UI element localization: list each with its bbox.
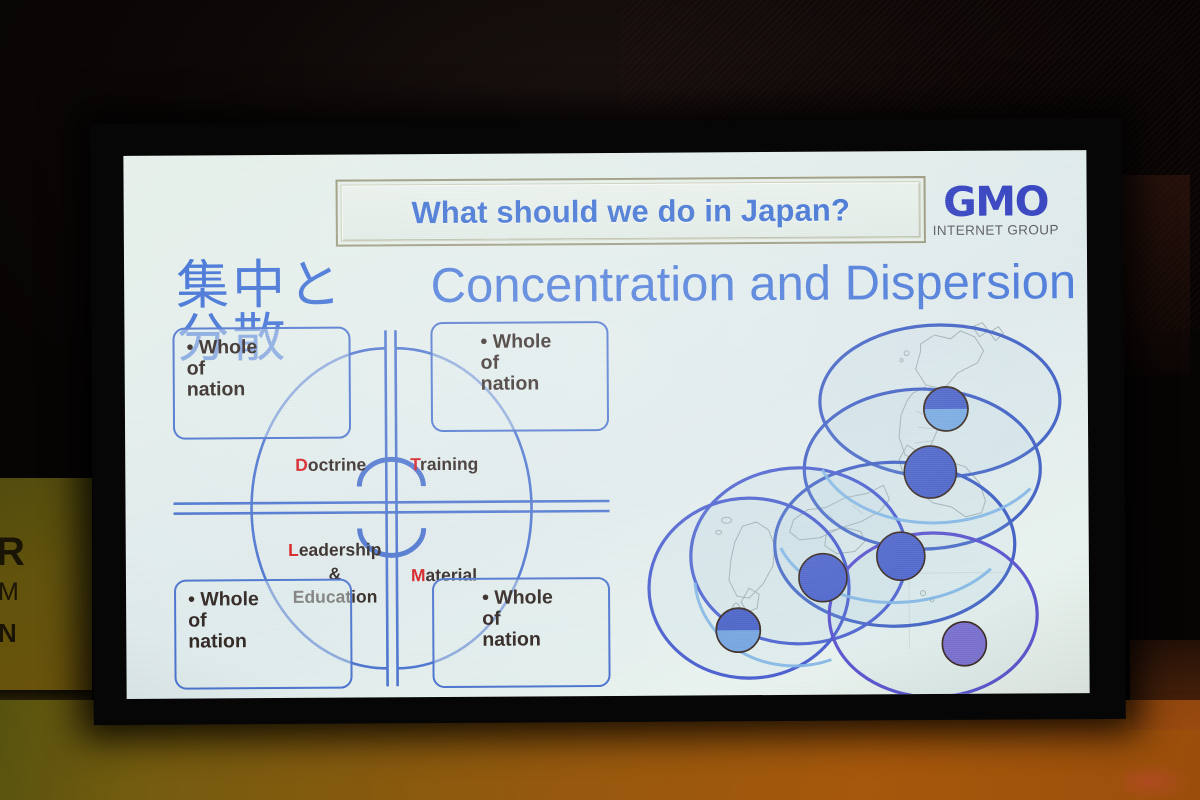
- map-graphics: [629, 318, 1089, 699]
- callout-br-line1: Whole: [482, 587, 596, 609]
- callout-tr-line2: of: [481, 352, 595, 374]
- callout-tl-line2: of: [187, 358, 337, 380]
- quadrant-label-doctrine: Doctrine: [295, 453, 366, 477]
- divider-vertical-left: [386, 348, 388, 668]
- concentration-diagram: Doctrine Training Leadership & Education…: [142, 325, 654, 693]
- callout-tl-line3: nation: [187, 379, 337, 401]
- quadrant-initial-material: M: [411, 565, 426, 585]
- wall-right: [1130, 640, 1200, 730]
- slide-title-inner-frame: What should we do in Japan?: [341, 181, 921, 242]
- banner-letter-2: M: [0, 578, 20, 607]
- quadrant-initial-doctrine: D: [295, 455, 308, 475]
- divider-vertical-right: [396, 348, 398, 668]
- quadrant-rest-training: raining: [420, 454, 478, 474]
- callout-bottom-right: Whole of nation: [432, 577, 611, 688]
- datacenter-dot-3: [877, 532, 925, 580]
- quadrant-label-training: Training: [410, 453, 478, 477]
- callout-top-right: Whole of nation: [430, 321, 609, 432]
- quadrant-rest-doctrine: octrine: [308, 454, 366, 474]
- page-title: What should we do in Japan?: [411, 192, 850, 231]
- quadrant-initial-leadership: L: [288, 540, 299, 560]
- gmo-logo-subtitle: INTERNET GROUP: [933, 222, 1059, 238]
- projector-screen-bezel: What should we do in Japan? GMO INTERNET…: [90, 118, 1126, 725]
- datacenter-dot-2: [904, 446, 956, 498]
- callout-br-line2: of: [482, 608, 596, 630]
- heading-english: Concentration and Dispersion: [430, 258, 1076, 311]
- gmo-wordmark: GMO: [932, 182, 1058, 222]
- venue-banner: R M N: [0, 478, 92, 710]
- gmo-logo: GMO INTERNET GROUP: [932, 182, 1058, 238]
- divider-horizontal-bottom: [174, 511, 610, 514]
- banner-letter-3: N: [0, 618, 18, 649]
- quadrant-line-leadership: Leadership: [276, 538, 394, 562]
- slide-title-box: What should we do in Japan?: [336, 176, 926, 247]
- datacenter-dot-4: [799, 554, 847, 602]
- quadrant-rest-leadership: eadership: [299, 539, 382, 560]
- dispersion-map: [629, 318, 1089, 699]
- banner-letter-1: R: [0, 530, 26, 575]
- callout-tr-line3: nation: [481, 373, 595, 395]
- callout-bl-line2: of: [188, 610, 338, 632]
- floor-logo-glow: [1122, 762, 1192, 800]
- callout-top-left: Whole of nation: [172, 327, 351, 440]
- callout-bl-line1: Whole: [188, 589, 338, 611]
- coverage-circles: [647, 324, 1061, 699]
- coverage-circle-okinawa: [829, 532, 1038, 697]
- quadrant-initial-training: T: [410, 454, 420, 474]
- callout-br-line3: nation: [482, 629, 596, 651]
- callout-bottom-left: Whole of nation: [174, 579, 353, 690]
- callout-tr-line1: Whole: [480, 331, 594, 353]
- datacenter-dot-6: [942, 622, 986, 666]
- callout-bl-line3: nation: [188, 631, 338, 653]
- presentation-slide: What should we do in Japan? GMO INTERNET…: [123, 150, 1089, 699]
- callout-tl-line1: Whole: [186, 337, 336, 359]
- divider-horizontal-top: [173, 501, 609, 504]
